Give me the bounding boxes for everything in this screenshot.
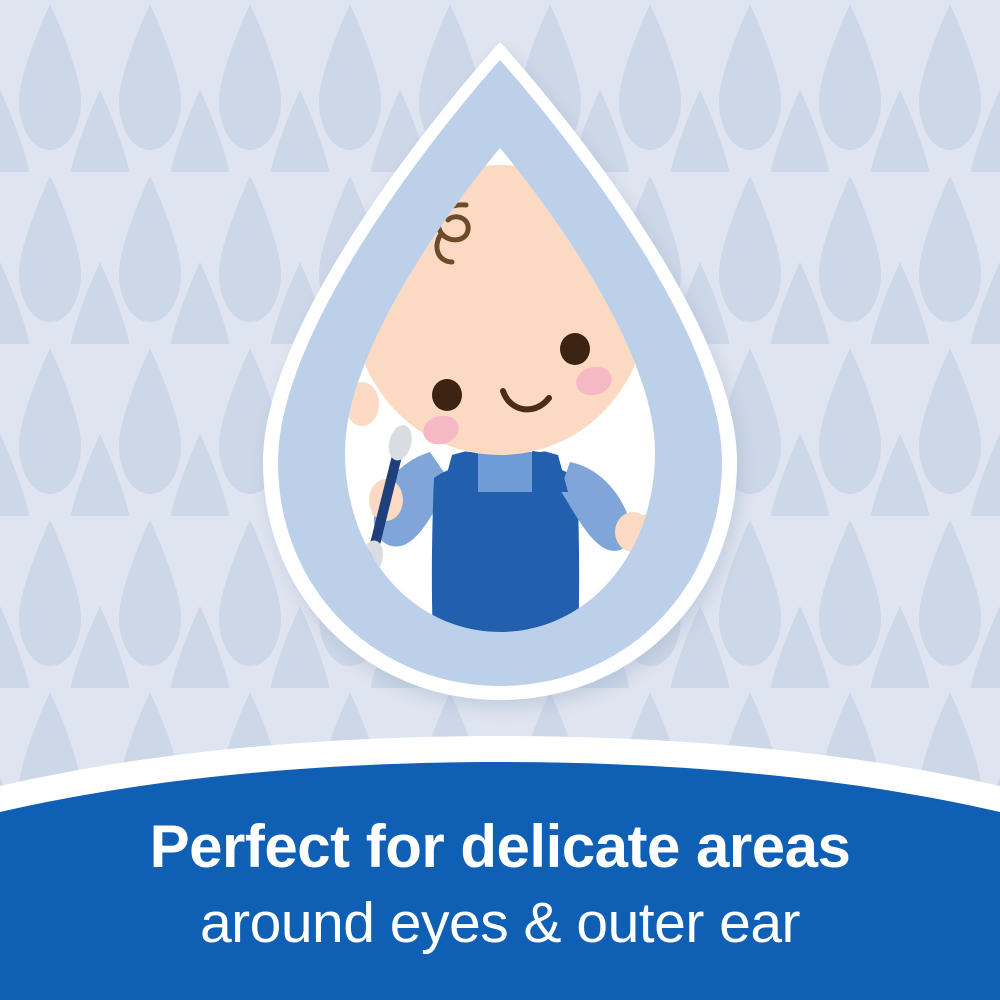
banner-blue-band <box>0 762 1000 1000</box>
banner-headline-secondary: around eyes & outer ear <box>0 893 1000 953</box>
banner-headline-primary: Perfect for delicate areas <box>0 816 1000 878</box>
product-banner-image: Perfect for delicate areas around eyes &… <box>0 0 1000 1000</box>
